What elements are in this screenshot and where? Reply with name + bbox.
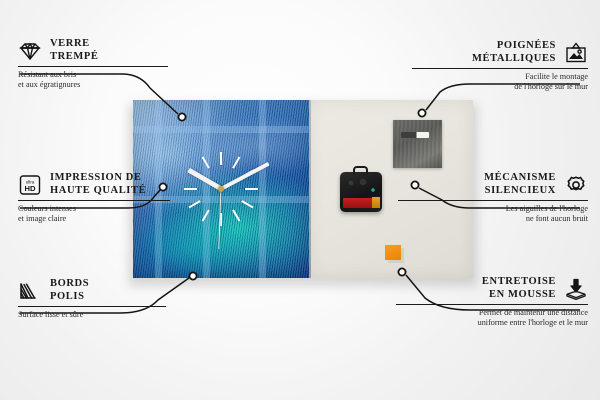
callout-subtitle-line2: et image claire <box>18 214 170 224</box>
callout-title-line2: EN MOUSSE <box>482 289 556 302</box>
callout-rule <box>412 68 588 69</box>
callout-title-line1: POIGNÉES <box>472 40 556 53</box>
callout-rule <box>398 200 588 201</box>
movement-hook <box>353 166 368 174</box>
movement-detail <box>345 178 377 196</box>
callout-mecanisme-silencieux: MÉCANISME SILENCIEUX Les aiguilles de l'… <box>398 172 588 224</box>
clock-movement <box>340 172 382 212</box>
foam-spacer <box>385 245 401 260</box>
callout-title-line2: MÉTALLIQUES <box>472 53 556 66</box>
callout-subtitle-line1: Permet de maintenir une distance <box>396 308 588 318</box>
callout-subtitle-line2: uniforme entre l'horloge et le mur <box>396 318 588 328</box>
callout-subtitle-line1: Surface lisse et sûre <box>18 310 166 320</box>
gear-icon <box>564 174 588 196</box>
panel-seam <box>309 100 311 278</box>
diamond-icon <box>18 40 42 62</box>
callout-subtitle-line2: de l'horloge sur le mur <box>412 82 588 92</box>
callout-title-line1: ENTRETOISE <box>482 276 556 289</box>
callout-bords-polis: BORDS POLIS Surface lisse et sûre <box>18 278 166 320</box>
callout-title-line2: HAUTE QUALITÉ <box>50 185 146 198</box>
infographic-stage: VERRE TREMPÉ Résistant aux bris et aux é… <box>0 0 600 400</box>
callout-verre-trempe: VERRE TREMPÉ Résistant aux bris et aux é… <box>18 38 168 90</box>
callout-rule <box>18 66 168 67</box>
ultra-hd-icon: ultra HD <box>18 174 42 196</box>
callout-title-line2: TREMPÉ <box>50 51 99 64</box>
callout-rule <box>18 306 166 307</box>
hanger-slot <box>401 132 429 138</box>
callout-title-line1: VERRE <box>50 38 99 51</box>
svg-text:HD: HD <box>25 184 36 193</box>
callout-title-line1: IMPRESSION DE <box>50 172 146 185</box>
press-down-pad-icon <box>564 278 588 300</box>
callout-title-line2: SILENCIEUX <box>484 185 556 198</box>
polished-edge-icon <box>18 280 42 302</box>
clock-center-cap <box>218 186 224 192</box>
callout-impression-haute-qualite: ultra HD IMPRESSION DE HAUTE QUALITÉ Cou… <box>18 172 170 224</box>
battery <box>343 198 379 208</box>
callout-rule <box>18 200 170 201</box>
callout-title-line2: POLIS <box>50 291 89 304</box>
callout-poignees-metalliques: POIGNÉES MÉTALLIQUES Facilite le montage… <box>412 40 588 92</box>
callout-subtitle-line1: Les aiguilles de l'horloge <box>398 204 588 214</box>
callout-entretoise-en-mousse: ENTRETOISE EN MOUSSE Permet de maintenir… <box>396 276 588 328</box>
callout-title-line1: BORDS <box>50 278 89 291</box>
callout-title-line1: MÉCANISME <box>484 172 556 185</box>
callout-subtitle-line2: et aux égratignures <box>18 80 168 90</box>
callout-rule <box>396 304 588 305</box>
metal-hanger-plate <box>393 120 442 168</box>
callout-subtitle-line1: Couleurs intenses <box>18 204 170 214</box>
callout-subtitle-line1: Résistant aux bris <box>18 70 168 80</box>
callout-subtitle-line2: ne font aucun bruit <box>398 214 588 224</box>
callout-subtitle-line1: Facilite le montage <box>412 72 588 82</box>
picture-frame-hanger-icon <box>564 42 588 64</box>
